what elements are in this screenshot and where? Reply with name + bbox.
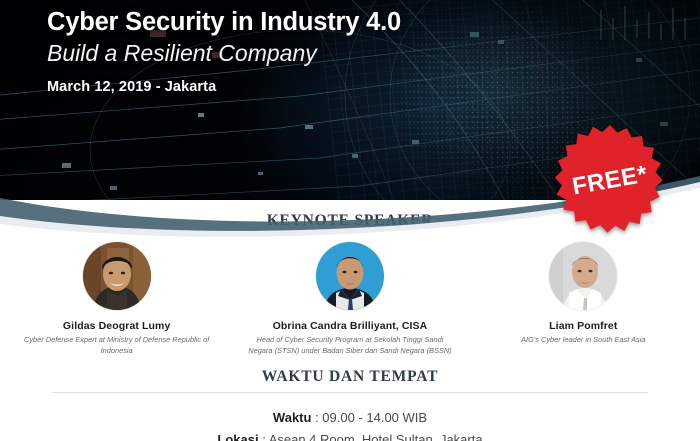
hero-text-block: Cyber Security in Industry 4.0 Build a R… (47, 8, 517, 95)
speaker-title: Cyber Defense Expert at Ministry of Defe… (12, 335, 222, 356)
speaker-name: Obrina Candra Brilliyant, CISA (273, 320, 428, 332)
waktu-location-line: Lokasi : Asean 4 Room, Hotel Sultan, Jak… (0, 429, 700, 441)
free-badge-label: FREE* (543, 114, 677, 248)
avatar (83, 242, 151, 310)
speaker-card: Gildas Deograt Lumy Cyber Defense Expert… (0, 242, 233, 356)
page-subtitle: Build a Resilient Company (47, 40, 517, 68)
speaker-title: Head of Cyber Security Program at Sekola… (245, 335, 455, 356)
waktu-time-value: : 09.00 - 14.00 WIB (311, 410, 427, 425)
waktu-location-label: Lokasi (217, 432, 258, 441)
speaker-photo-icon (83, 242, 151, 310)
waktu-time-label: Waktu (273, 410, 312, 425)
waktu-details: Waktu : 09.00 - 14.00 WIB Lokasi : Asean… (0, 407, 700, 441)
avatar (316, 242, 384, 310)
page-title: Cyber Security in Industry 4.0 (47, 8, 517, 38)
section-divider (52, 392, 648, 393)
waktu-location-value: : Asean 4 Room, Hotel Sultan, Jakarta (259, 432, 483, 441)
speaker-name: Liam Pomfret (549, 320, 617, 332)
event-date-location: March 12, 2019 - Jakarta (47, 79, 517, 95)
waktu-heading: WAKTU DAN TEMPAT (0, 368, 700, 386)
speakers-row: Gildas Deograt Lumy Cyber Defense Expert… (0, 242, 700, 356)
free-badge: FREE* (552, 123, 668, 239)
speaker-photo-icon (316, 242, 384, 310)
speaker-photo-icon (549, 242, 617, 310)
speaker-title: AIG's Cyber leader in South East Asia (521, 335, 645, 346)
speaker-card: Liam Pomfret AIG's Cyber leader in South… (467, 242, 700, 356)
waktu-time-line: Waktu : 09.00 - 14.00 WIB (0, 407, 700, 429)
speaker-card: Obrina Candra Brilliyant, CISA Head of C… (233, 242, 466, 356)
avatar (549, 242, 617, 310)
speaker-name: Gildas Deograt Lumy (63, 320, 171, 332)
event-flyer: Cyber Security in Industry 4.0 Build a R… (0, 0, 700, 441)
